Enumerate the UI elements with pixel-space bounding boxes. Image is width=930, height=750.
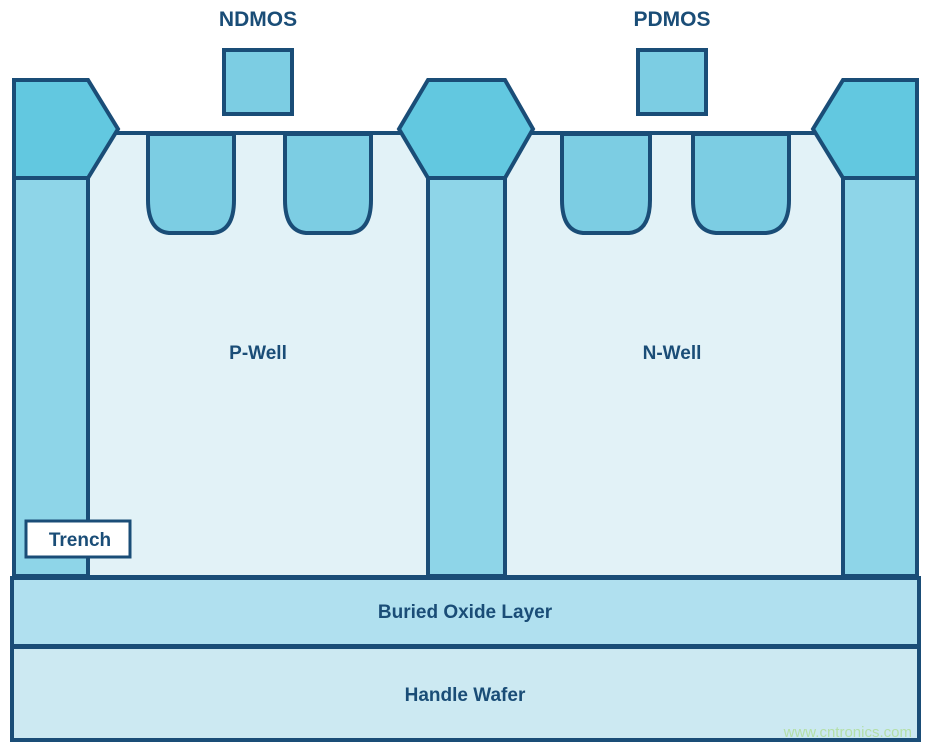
center-trench-column: [428, 178, 505, 576]
pdmos-title-label: PDMOS: [633, 8, 710, 31]
pdmos-gate-electrode: [638, 50, 706, 114]
watermark-label: www.cntronics.com: [783, 724, 912, 741]
trench-label-text: Trench: [49, 530, 111, 551]
buried-oxide-label: Buried Oxide Layer: [378, 602, 553, 623]
soi-cross-section-diagram: Trench NDMOS PDMOS P-Well N-Well Buried …: [0, 0, 930, 750]
center-trench-hexagon-head: [399, 80, 533, 178]
ndmos-source-region: [148, 134, 234, 233]
pdmos-source-region: [562, 134, 650, 233]
trench-callout: Trench: [26, 521, 130, 557]
diagram-canvas: Trench NDMOS PDMOS P-Well N-Well Buried …: [0, 0, 930, 750]
handle-wafer-label: Handle Wafer: [405, 685, 526, 706]
n-well-label: N-Well: [643, 343, 702, 364]
ndmos-title-label: NDMOS: [219, 8, 297, 31]
ndmos-drain-region: [285, 134, 371, 233]
left-trench-column: [14, 178, 88, 576]
pdmos-drain-region: [693, 134, 789, 233]
ndmos-gate-electrode: [224, 50, 292, 114]
p-well-label: P-Well: [229, 343, 287, 364]
right-trench-column: [843, 178, 917, 576]
